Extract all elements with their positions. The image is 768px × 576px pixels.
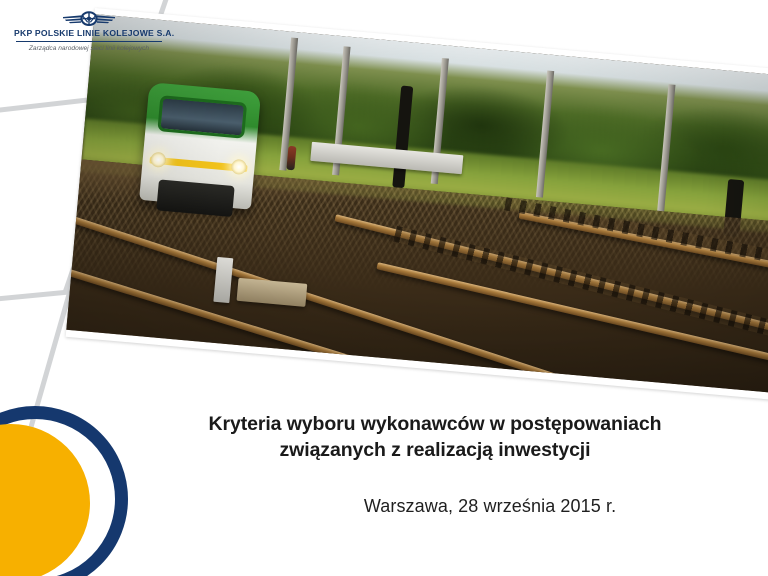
hero-photo-image (66, 14, 768, 397)
hero-photo (66, 8, 768, 404)
logo-tagline: Zarządca narodowej sieci linii kolejowyc… (14, 45, 164, 52)
slide-title-line-2: związanych z realizacją inwestycji (150, 438, 720, 464)
slide-title-line-1: Kryteria wyboru wykonawców w postępowani… (150, 412, 720, 438)
slide-title: Kryteria wyboru wykonawców w postępowani… (150, 412, 720, 464)
photo-vignette (66, 14, 768, 397)
presentation-slide: PKP POLSKIE LINIE KOLEJOWE S.A. Zarządca… (0, 0, 768, 576)
pkp-winged-wheel-emblem (61, 10, 117, 27)
logo-divider (16, 41, 162, 42)
slide-subtitle: Warszawa, 28 września 2015 r. (230, 496, 750, 517)
logo-company-name: PKP POLSKIE LINIE KOLEJOWE S.A. (14, 28, 164, 38)
pkp-logo: PKP POLSKIE LINIE KOLEJOWE S.A. Zarządca… (14, 10, 164, 52)
